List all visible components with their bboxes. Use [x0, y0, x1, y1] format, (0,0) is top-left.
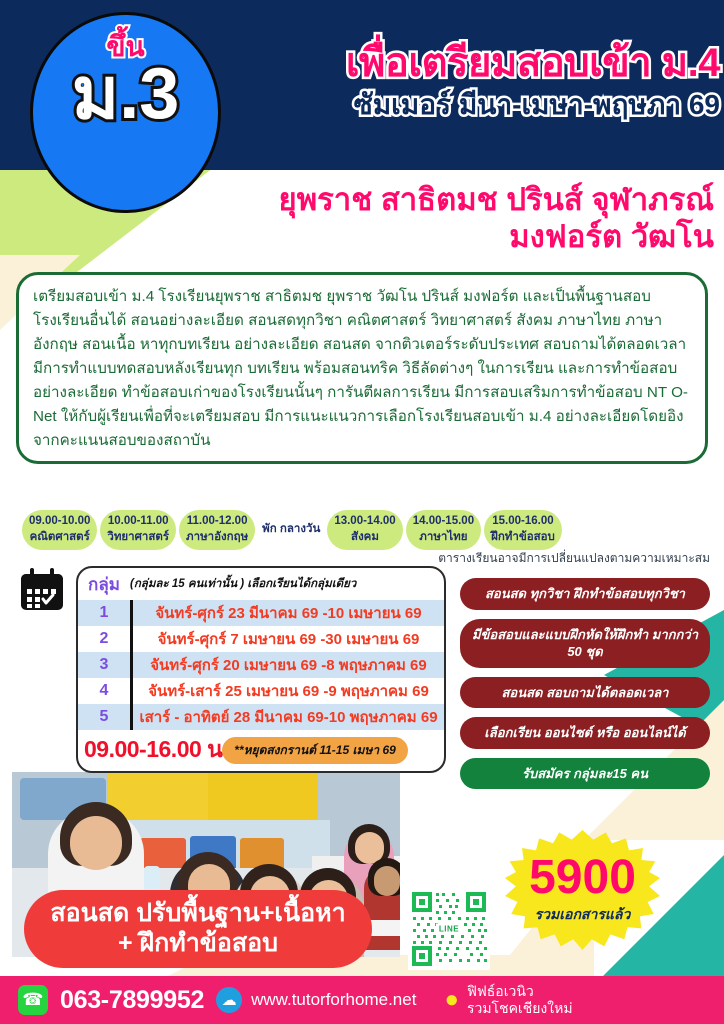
- time-slot-6-time: 15.00-16.00: [491, 514, 555, 530]
- header-title-group: เพื่อเตรียมสอบเข้า ม.4 ซัมเมอร์ มีนา-เมษ…: [185, 42, 724, 121]
- description-text: เตรียมสอบเข้า ม.4 โรงเรียนยุพราช สาธิตมช…: [33, 285, 691, 453]
- time-slot-2: 10.00-11.00 วิทยาศาสตร์: [100, 510, 176, 549]
- feature-list: สอนสด ทุกวิชา ฝึกทำข้อสอบทุกวิชา มีข้อสอ…: [460, 578, 710, 789]
- group-dates: จันทร์-ศุกร์ 7 เมษายน 69 -30 เมษายน 69: [130, 626, 444, 652]
- group-table-caption: (กลุ่มละ 15 คนเท่านั้น ) เลือกเรียนได้กล…: [130, 571, 444, 593]
- time-slot-4-time: 13.00-14.00: [334, 514, 395, 530]
- table-row: 1 จันทร์-ศุกร์ 23 มีนาคม 69 -10 เมษายน 6…: [78, 600, 444, 626]
- table-row: 4 จันทร์-เสาร์ 25 เมษายน 69 -9 พฤษภาคม 6…: [78, 678, 444, 704]
- group-table-footer: 09.00-16.00 น. **หยุดสงกรานต์ 11-15 เมษา…: [78, 730, 444, 771]
- group-dates: จันทร์-เสาร์ 25 เมษายน 69 -9 พฤษภาคม 69: [130, 678, 444, 704]
- school-line-1: ยุพราช สาธิตมช ปรินส์ จุฬาภรณ์: [74, 182, 714, 219]
- group-schedule-table: กลุ่ม (กลุ่มละ 15 คนเท่านั้น ) เลือกเรีย…: [76, 566, 446, 773]
- time-slot-1: 09.00-10.00 คณิตศาสตร์: [22, 510, 97, 549]
- feature-item-3: สอนสด สอบถามได้ตลอดเวลา: [460, 677, 710, 709]
- time-slot-1-subject: คณิตศาสตร์: [29, 530, 90, 546]
- time-slot-5-subject: ภาษาไทย: [413, 530, 474, 546]
- group-dates: จันทร์-ศุกร์ 23 มีนาคม 69 -10 เมษายน 69: [130, 600, 444, 626]
- feature-item-2: มีข้อสอบและแบบฝึกหัดให้ฝึกทำ มากกว่า 50 …: [460, 619, 710, 668]
- group-number: 4: [78, 682, 130, 700]
- group-number: 5: [78, 708, 130, 726]
- time-slot-2-time: 10.00-11.00: [107, 514, 169, 530]
- location-pin-icon: ●: [444, 988, 459, 1012]
- holiday-badge: **หยุดสงกรานต์ 11-15 เมษา 69: [222, 737, 408, 764]
- time-slot-5-time: 14.00-15.00: [413, 514, 474, 530]
- time-slot-2-subject: วิทยาศาสตร์: [107, 530, 169, 546]
- price-amount: 5900: [529, 854, 636, 902]
- time-slot-5: 14.00-15.00 ภาษาไทย: [406, 510, 481, 549]
- time-slot-4-subject: สังคม: [334, 530, 395, 546]
- group-number: 2: [78, 630, 130, 648]
- group-dates: จันทร์-ศุกร์ 20 เมษายน 69 -8 พฤษภาคม 69: [130, 652, 444, 678]
- group-table-header: กลุ่ม (กลุ่มละ 15 คนเท่านั้น ) เลือกเรีย…: [78, 568, 444, 600]
- timetable-note: ตารางเรียนอาจมีการเปลี่ยนแปลงตามความเหมา…: [438, 549, 710, 568]
- footer-address: ฟิฟธ์อเวนิว รวมโชคเชียงใหม่: [467, 983, 573, 1018]
- promo-banner-line-1: สอนสด ปรับพื้นฐาน+เนื้อหา: [36, 898, 360, 928]
- promo-banner: สอนสด ปรับพื้นฐาน+เนื้อหา + ฝึกทำข้อสอบ: [24, 890, 372, 968]
- price-badge: 5900 รวมเอกสารแล้ว: [505, 830, 660, 950]
- time-slot-3: 11.00-12.00 ภาษาอังกฤษ: [179, 510, 255, 549]
- footer-phone[interactable]: 063-7899952: [60, 986, 204, 1015]
- price-note: รวมเอกสารแล้ว: [535, 904, 631, 926]
- group-dates: เสาร์ - อาทิตย์ 28 มีนาคม 69-10 พฤษภาคม …: [130, 704, 444, 730]
- lunch-break-line-2: กลางวัน: [280, 523, 320, 535]
- group-column-header: กลุ่ม: [78, 571, 130, 598]
- feature-item-5: รับสมัคร กลุ่มละ15 คน: [460, 758, 710, 790]
- group-number: 1: [78, 604, 130, 622]
- table-row: 5 เสาร์ - อาทิตย์ 28 มีนาคม 69-10 พฤษภาค…: [78, 704, 444, 730]
- school-list: ยุพราช สาธิตมช ปรินส์ จุฬาภรณ์ มงฟอร์ต ว…: [74, 182, 714, 255]
- timetable-row: 09.00-10.00 คณิตศาสตร์ 10.00-11.00 วิทยา…: [22, 509, 712, 551]
- calendar-icon: [18, 566, 66, 614]
- lunch-break-line-1: พัก: [262, 523, 277, 535]
- page-subtitle: ซัมเมอร์ มีนา-เมษา-พฤษภา 69: [185, 90, 720, 121]
- class-hours: 09.00-16.00 น.: [80, 732, 228, 768]
- description-box: เตรียมสอบเข้า ม.4 โรงเรียนยุพราช สาธิตมช…: [16, 272, 708, 464]
- table-row: 2 จันทร์-ศุกร์ 7 เมษายน 69 -30 เมษายน 69: [78, 626, 444, 652]
- globe-icon: ☁: [216, 987, 242, 1013]
- poster-root: เพื่อเตรียมสอบเข้า ม.4 ซัมเมอร์ มีนา-เมษ…: [0, 0, 724, 1024]
- page-title: เพื่อเตรียมสอบเข้า ม.4: [185, 42, 720, 84]
- lunch-break: พัก กลางวัน: [258, 518, 324, 542]
- time-slot-6: 15.00-16.00 ฝึกทำข้อสอบ: [484, 510, 562, 549]
- feature-item-4: เลือกเรียน ออนไซต์ หรือ ออนไลน์ได้: [460, 717, 710, 749]
- footer-address-line-2: รวมโชคเชียงใหม่: [467, 1000, 573, 1018]
- time-slot-3-time: 11.00-12.00: [186, 514, 248, 530]
- footer-address-line-1: ฟิฟธ์อเวนิว: [467, 983, 573, 1001]
- time-slot-6-subject: ฝึกทำข้อสอบ: [491, 530, 555, 546]
- line-qr-code[interactable]: LINE: [408, 888, 490, 970]
- time-slot-3-subject: ภาษาอังกฤษ: [186, 530, 248, 546]
- promo-banner-line-2: + ฝึกทำข้อสอบ: [36, 928, 360, 958]
- table-row: 3 จันทร์-ศุกร์ 20 เมษายน 69 -8 พฤษภาคม 6…: [78, 652, 444, 678]
- school-line-2: มงฟอร์ต วัฒโน: [74, 219, 714, 256]
- time-slot-4: 13.00-14.00 สังคม: [327, 510, 402, 549]
- feature-item-1: สอนสด ทุกวิชา ฝึกทำข้อสอบทุกวิชา: [460, 578, 710, 610]
- group-number: 3: [78, 656, 130, 674]
- time-slot-1-time: 09.00-10.00: [29, 514, 90, 530]
- line-qr-label: LINE: [436, 924, 462, 935]
- footer-website[interactable]: www.tutorforhome.net: [251, 990, 416, 1010]
- phone-icon: ☎: [18, 985, 48, 1015]
- footer-bar: ☎ 063-7899952 ☁ www.tutorforhome.net ● ฟ…: [0, 976, 724, 1024]
